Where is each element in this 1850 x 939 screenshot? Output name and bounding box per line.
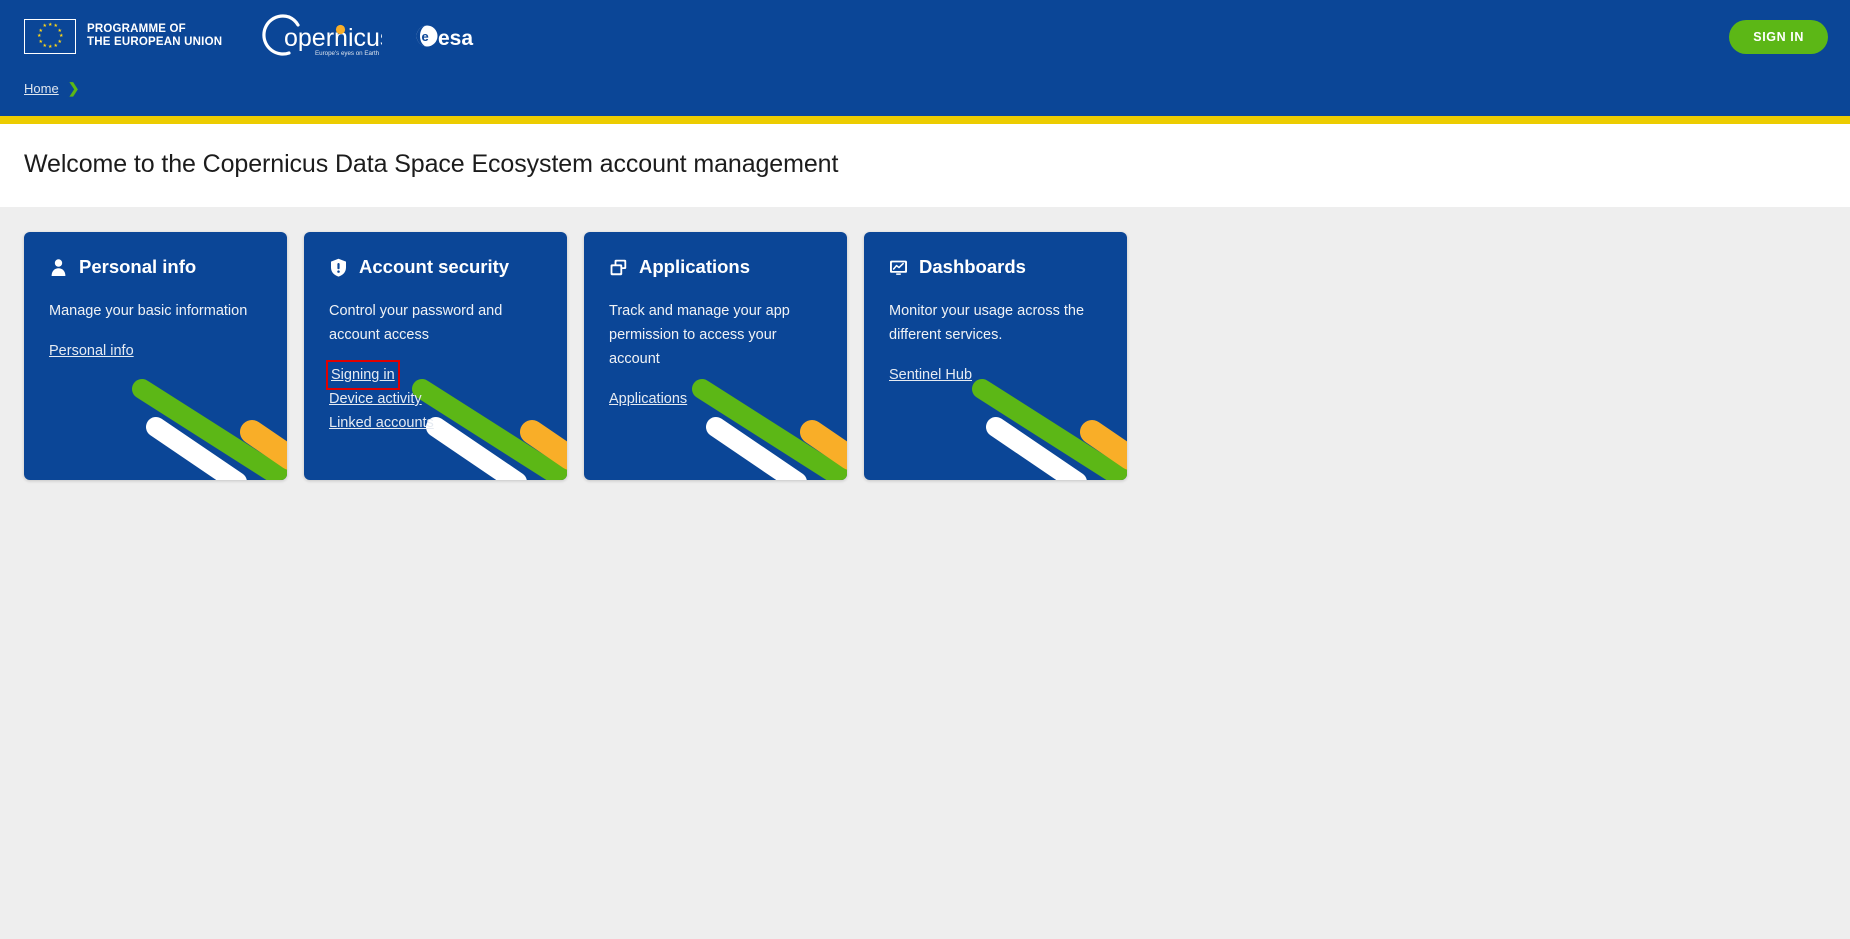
page-title: Welcome to the Copernicus Data Space Eco… <box>24 150 1826 179</box>
card-title-label: Dashboards <box>919 256 1026 278</box>
cards-row: Personal infoManage your basic informati… <box>24 232 1826 480</box>
breadcrumb: Home ❯ <box>0 72 1850 104</box>
card-description: Monitor your usage across the different … <box>889 299 1102 347</box>
chevron-right-icon: ❯ <box>68 81 80 95</box>
card-title: Personal info <box>49 256 262 278</box>
card-link-linked-accounts[interactable]: Linked accounts <box>329 411 434 435</box>
esa-logo-icon: e esa <box>416 21 480 51</box>
eu-star-icon: ★ <box>59 34 63 38</box>
card-applications: ApplicationsTrack and manage your app pe… <box>584 232 847 480</box>
header-logo-bar: ★★★★★★★★★★★★ PROGRAMME OF THE EUROPEAN U… <box>0 0 1850 72</box>
card-link-sentinel-hub[interactable]: Sentinel Hub <box>889 363 972 387</box>
shield-icon <box>329 258 348 277</box>
eu-programme-logo: ★★★★★★★★★★★★ PROGRAMME OF THE EUROPEAN U… <box>24 19 222 54</box>
sign-in-button[interactable]: SIGN IN <box>1729 20 1828 54</box>
card-content: ApplicationsTrack and manage your app pe… <box>584 232 847 411</box>
card-links: Signing inDevice activityLinked accounts <box>329 363 542 435</box>
eu-star-icon: ★ <box>38 40 42 44</box>
copernicus-logo-icon: opernicus Europe's eyes on Earth <box>258 13 382 59</box>
card-title: Account security <box>329 256 542 278</box>
card-links: Sentinel Hub <box>889 363 1102 387</box>
eu-star-icon: ★ <box>37 34 41 38</box>
eu-star-icon: ★ <box>48 45 52 49</box>
svg-text:esa: esa <box>438 27 473 50</box>
logo-group: ★★★★★★★★★★★★ PROGRAMME OF THE EUROPEAN U… <box>24 13 480 59</box>
card-title-label: Personal info <box>79 256 196 278</box>
card-description: Manage your basic information <box>49 299 262 323</box>
card-description: Track and manage your app permission to … <box>609 299 822 371</box>
card-title: Applications <box>609 256 822 278</box>
svg-text:e: e <box>422 29 429 44</box>
site-header: ★★★★★★★★★★★★ PROGRAMME OF THE EUROPEAN U… <box>0 0 1850 116</box>
card-content: Personal infoManage your basic informati… <box>24 232 287 363</box>
card-links: Personal info <box>49 339 262 363</box>
eu-star-icon: ★ <box>58 40 62 44</box>
card-link-personal-info[interactable]: Personal info <box>49 339 134 363</box>
chart-monitor-icon <box>889 258 908 277</box>
card-personal-info: Personal infoManage your basic informati… <box>24 232 287 480</box>
card-account-security: Account securityControl your password an… <box>304 232 567 480</box>
page-title-bar: Welcome to the Copernicus Data Space Eco… <box>0 124 1850 207</box>
card-links: Applications <box>609 387 822 411</box>
accent-stripe <box>0 116 1850 124</box>
card-content: DashboardsMonitor your usage across the … <box>864 232 1127 387</box>
eu-star-icon: ★ <box>48 23 52 27</box>
eu-flag-icon: ★★★★★★★★★★★★ <box>24 19 76 54</box>
windows-icon <box>609 258 628 277</box>
card-title-label: Applications <box>639 256 750 278</box>
eu-star-icon: ★ <box>54 44 58 48</box>
svg-text:Europe's eyes on Earth: Europe's eyes on Earth <box>315 50 380 57</box>
card-title-label: Account security <box>359 256 509 278</box>
svg-text:opernicus: opernicus <box>284 24 382 52</box>
card-dashboards: DashboardsMonitor your usage across the … <box>864 232 1127 480</box>
eu-star-icon: ★ <box>38 29 42 33</box>
person-icon <box>49 258 68 277</box>
card-description: Control your password and account access <box>329 299 542 347</box>
eu-star-icon: ★ <box>43 44 47 48</box>
breadcrumb-item-home[interactable]: Home <box>24 81 59 96</box>
eu-star-icon: ★ <box>43 24 47 28</box>
card-content: Account securityControl your password an… <box>304 232 567 435</box>
card-title: Dashboards <box>889 256 1102 278</box>
card-link-device-activity[interactable]: Device activity <box>329 387 422 411</box>
eu-star-icon: ★ <box>58 29 62 33</box>
cards-area: Personal infoManage your basic informati… <box>0 207 1850 707</box>
eu-programme-label: PROGRAMME OF THE EUROPEAN UNION <box>87 23 222 50</box>
card-link-signing-in[interactable]: Signing in <box>329 363 397 387</box>
card-link-applications[interactable]: Applications <box>609 387 687 411</box>
